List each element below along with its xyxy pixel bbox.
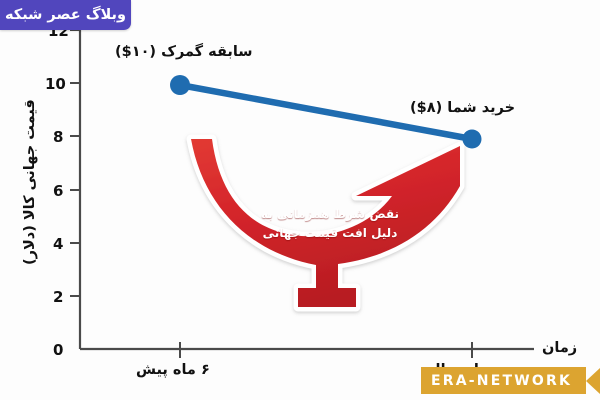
watermark-notch-icon xyxy=(586,368,600,394)
data-point-left[interactable] xyxy=(170,75,190,95)
x-tick-label-six-months-ago: ۶ ماه پیش xyxy=(136,362,210,378)
brand-banner: وبلاگ عصر شبکه xyxy=(0,0,131,30)
data-point-right[interactable] xyxy=(463,130,482,149)
y-tick-label-6: 6 xyxy=(53,182,63,200)
point-label-your-purchase: خرید شما (۸$) xyxy=(410,100,515,116)
y-tick-label-10: 10 xyxy=(45,75,66,93)
x-axis-title: زمان xyxy=(542,340,577,356)
arrow-annotation-text: نقض شرط همزمانی به دلیل افت قیمت جهانی xyxy=(240,205,420,242)
arrow-annotation-line-1: نقض شرط همزمانی به xyxy=(240,205,420,224)
y-tick-label-0: 0 xyxy=(53,341,63,359)
brand-banner-label: وبلاگ عصر شبکه xyxy=(5,7,126,23)
y-tick-label-4: 4 xyxy=(53,235,63,253)
arrow-annotation-line-2: دلیل افت قیمت جهانی xyxy=(240,224,420,243)
y-tick-label-2: 2 xyxy=(53,288,63,306)
plot-area xyxy=(0,0,600,400)
y-tick-label-8: 8 xyxy=(53,128,63,146)
watermark-label: ERA-NETWORK xyxy=(421,367,586,394)
point-label-customs-history: سابقه گمرک (۱۰$) xyxy=(115,44,253,60)
watermark: ERA-NETWORK xyxy=(421,367,600,394)
y-axis-ticks xyxy=(70,30,80,296)
y-axis-title: قیمت جهانی کالا (دلار) xyxy=(22,99,38,265)
chart-canvas: وبلاگ عصر شبکه xyxy=(0,0,600,400)
